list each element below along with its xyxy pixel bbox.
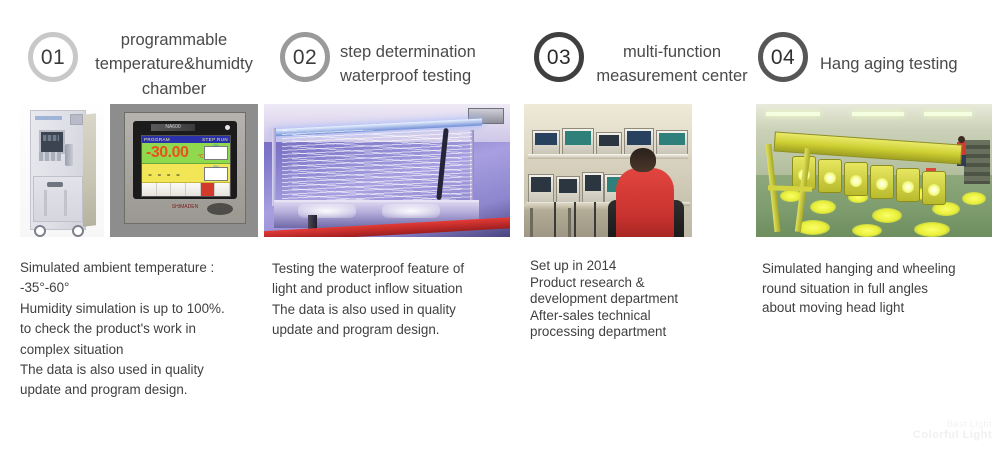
controller-sv-value: - - - - bbox=[148, 168, 181, 180]
panel-03-image-area bbox=[520, 104, 752, 237]
controller-screen-topbar: PROGRAM STEP RUN bbox=[142, 136, 230, 143]
lab-bench-instrument-3-screen bbox=[585, 175, 601, 191]
panel-03: 03 multi-function measurement center bbox=[520, 0, 752, 450]
factory-storage-rack bbox=[964, 140, 990, 184]
water-foam-right bbox=[382, 204, 440, 218]
chamber-keypad bbox=[39, 152, 61, 161]
moving-head-light-6 bbox=[922, 171, 946, 205]
lab-bench-leg-2 bbox=[568, 208, 571, 237]
lab-instrument-3-screen bbox=[599, 135, 619, 146]
panel-02-image-area bbox=[262, 104, 520, 237]
controller-sv-row: - - - - SV bbox=[142, 164, 230, 183]
controller-softkey-6 bbox=[215, 183, 230, 196]
lab-bench-leg-1 bbox=[530, 208, 533, 237]
controller-brand-label: NA600 bbox=[151, 124, 195, 131]
lab-cable-1 bbox=[554, 202, 556, 237]
panel-caption-02: Testing the waterproof feature of light … bbox=[272, 259, 512, 341]
lab-upper-shelf bbox=[528, 154, 688, 159]
controller-power-led-icon bbox=[225, 125, 230, 130]
lab-instrument-1-screen bbox=[535, 133, 557, 145]
chamber-window bbox=[39, 130, 65, 154]
water-foam-left bbox=[298, 204, 356, 218]
measurement-lab-photo bbox=[524, 104, 692, 237]
controller-speaker-grille-icon bbox=[207, 203, 233, 215]
moving-head-light-5 bbox=[896, 168, 920, 202]
lab-instrument-5 bbox=[656, 130, 688, 155]
controller-softkey-run bbox=[201, 183, 216, 196]
light-spot-10 bbox=[962, 192, 986, 205]
chamber-lower-handle bbox=[47, 182, 63, 187]
controller-softkey-row bbox=[142, 183, 230, 196]
panel-04-image-area bbox=[752, 104, 1000, 237]
light-spot-8 bbox=[852, 224, 882, 237]
panel-title-02: step determination waterproof testing bbox=[340, 40, 516, 89]
panel-02: 02 step determination waterproof testing bbox=[262, 0, 520, 450]
lab-front-bench bbox=[524, 204, 620, 237]
controller-screen: PROGRAM STEP RUN -30.00 °C SV bbox=[141, 135, 231, 197]
lab-bench-instrument-1 bbox=[528, 174, 554, 204]
lab-bench-instrument-1-screen bbox=[531, 177, 551, 192]
light-spot-2 bbox=[810, 200, 836, 214]
controller-maker-logo: SHIMADEN bbox=[165, 204, 205, 210]
lab-instrument-1 bbox=[532, 130, 560, 155]
controller-topbar-right: STEP RUN bbox=[200, 137, 230, 142]
watermark: Best Light Colorful Light bbox=[913, 419, 992, 442]
light-spot-4 bbox=[872, 208, 902, 223]
lab-instrument-2-screen bbox=[565, 131, 591, 145]
chamber-door-handle bbox=[65, 144, 73, 166]
watermark-line-1: Best Light bbox=[913, 419, 992, 429]
moving-head-light-4 bbox=[870, 165, 894, 199]
panel-04: 04 Hang aging testing bbox=[752, 0, 1000, 450]
controller-pv-value: -30.00 bbox=[146, 144, 188, 162]
controller-softkey-3 bbox=[171, 183, 186, 196]
infographic-page: 01 programmable temperature&humidty cham… bbox=[0, 0, 1000, 450]
step-number-badge-02: 02 bbox=[280, 32, 330, 82]
moving-head-light-3 bbox=[844, 162, 868, 196]
step-number-badge-04: 04 bbox=[758, 32, 808, 82]
controller-sv-setpoint-label: SV bbox=[205, 164, 227, 169]
lab-bench-instrument-2 bbox=[556, 176, 580, 204]
controller-softkey-4 bbox=[186, 183, 201, 196]
lab-instrument-2 bbox=[562, 128, 594, 155]
moving-head-light-2 bbox=[818, 159, 842, 193]
ceiling-light-1 bbox=[766, 112, 820, 116]
step-number-badge-03: 03 bbox=[534, 32, 584, 82]
controller-pv-setpoint-label: SV bbox=[205, 143, 227, 148]
step-number-02: 02 bbox=[293, 47, 317, 68]
lab-bench-instrument-3 bbox=[582, 172, 604, 204]
panel-01-header: 01 programmable temperature&humidty cham… bbox=[0, 18, 262, 98]
chamber-slit-right bbox=[64, 190, 67, 216]
hang-aging-test-photo bbox=[756, 104, 992, 237]
panel-caption-03: Set up in 2014 Product research & develo… bbox=[530, 258, 746, 341]
chamber-slit-left bbox=[44, 190, 47, 216]
panel-title-01: programmable temperature&humidty chamber bbox=[88, 28, 260, 101]
chamber-caster-left bbox=[34, 225, 46, 237]
panel-04-header: 04 Hang aging testing bbox=[752, 18, 1000, 98]
panel-caption-04: Simulated hanging and wheeling round sit… bbox=[762, 259, 994, 318]
panel-caption-01: Simulated ambient temperature : -35°-60°… bbox=[20, 258, 254, 401]
panel-title-04: Hang aging testing bbox=[820, 52, 996, 76]
ceiling-light-2 bbox=[852, 112, 904, 116]
step-number-01: 01 bbox=[41, 47, 65, 68]
lab-bench-instrument-2-screen bbox=[559, 179, 577, 193]
panel-01-image-area: NA600 PROGRAM STEP RUN -30.00 °C bbox=[0, 104, 262, 237]
controller-topbar-left: PROGRAM bbox=[142, 137, 172, 142]
panel-title-03: multi-function measurement center bbox=[592, 40, 752, 89]
ceiling-light-3 bbox=[924, 112, 972, 116]
chamber-side-panel bbox=[83, 113, 96, 227]
booth-frame-left bbox=[272, 128, 276, 206]
controller-sv-setpoint-box: SV bbox=[204, 167, 228, 181]
controller-bezel: NA600 PROGRAM STEP RUN -30.00 °C bbox=[133, 121, 237, 199]
factory-ceiling bbox=[756, 104, 992, 130]
panel-03-header: 03 multi-function measurement center bbox=[520, 18, 752, 98]
lab-instrument-5-screen bbox=[659, 133, 685, 145]
lab-technician-head bbox=[630, 148, 656, 172]
lab-cable-2 bbox=[574, 202, 576, 237]
lab-cable-3 bbox=[594, 202, 596, 237]
chamber-controller-photo: NA600 PROGRAM STEP RUN -30.00 °C bbox=[110, 104, 258, 237]
controller-softkey-2 bbox=[157, 183, 172, 196]
controller-softkey-1 bbox=[142, 183, 157, 196]
controller-pv-row: -30.00 °C SV bbox=[142, 143, 230, 164]
watermark-line-2: Colorful Light bbox=[913, 429, 992, 442]
chamber-vent-icon bbox=[70, 114, 83, 125]
controller-pv-unit: °C bbox=[198, 154, 204, 160]
step-number-03: 03 bbox=[547, 47, 571, 68]
panel-02-header: 02 step determination waterproof testing bbox=[262, 18, 520, 98]
lab-instrument-4-screen bbox=[627, 131, 651, 145]
chamber-caster-right bbox=[72, 225, 84, 237]
lab-instrument-3 bbox=[596, 132, 622, 155]
step-number-04: 04 bbox=[771, 47, 795, 68]
waterproof-test-booth-photo bbox=[264, 104, 510, 237]
controller-frame: NA600 PROGRAM STEP RUN -30.00 °C bbox=[124, 112, 246, 224]
chamber-logo-strip bbox=[35, 116, 62, 120]
chamber-cabinet-photo bbox=[20, 104, 104, 237]
panel-01: 01 programmable temperature&humidty cham… bbox=[0, 0, 262, 450]
light-spot-9 bbox=[914, 222, 950, 237]
lab-technician-body bbox=[616, 168, 674, 237]
controller-pv-setpoint-box: SV bbox=[204, 146, 228, 160]
step-number-badge-01: 01 bbox=[28, 32, 78, 82]
